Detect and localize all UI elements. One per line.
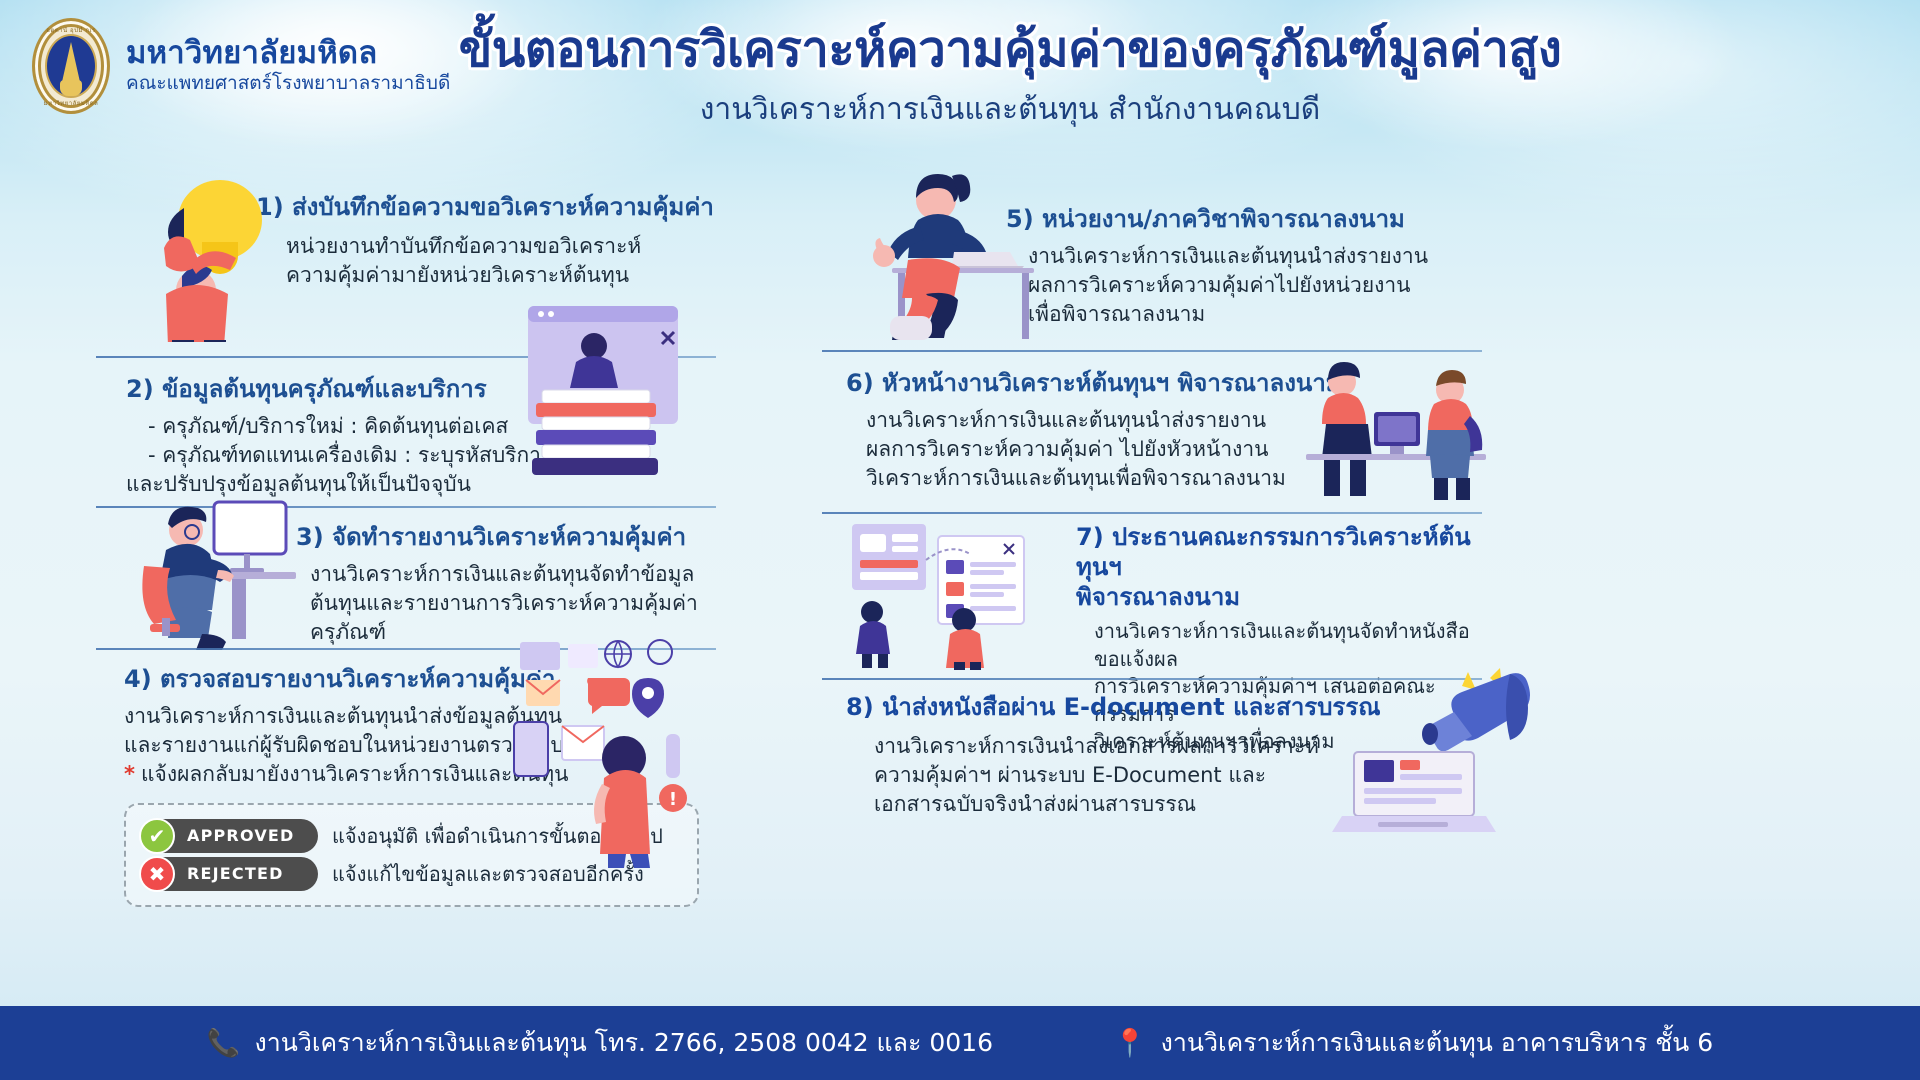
rejected-row: ✖ REJECTED แจ้งแก้ไขข้อมูลและตรวจสอบอีกค… [140, 857, 683, 891]
mahidol-crest-icon: อตฺตานํ อุปมํ กเร มหาวิทยาลัยมหิดล [32, 18, 110, 114]
step-8-body-line: งานวิเคราะห์การเงินนำส่งเอกสารผลการวิเคร… [874, 732, 1482, 761]
step-8-body-line: เอกสารฉบับจริงนำส่งผ่านสารบรรณ [874, 790, 1482, 819]
step-8-heading: 8) นำส่งหนังสือผ่าน E-document และสารบรร… [846, 692, 1482, 722]
step-2: 2) ข้อมูลต้นทุนครุภัณฑ์และบริการ - ครุภั… [96, 358, 716, 506]
footer-location-text: งานวิเคราะห์การเงินและต้นทุน อาคารบริหาร… [1161, 1023, 1714, 1063]
step-2-body-line: - ครุภัณฑ์/บริการใหม่ : คิดต้นทุนต่อเคส [148, 412, 716, 441]
step-1-heading: 1) ส่งบันทึกข้อความขอวิเคราะห์ความคุ้มค่… [256, 192, 716, 222]
page-subtitle: งานวิเคราะห์การเงินและต้นทุน สำนักงานคณบ… [420, 86, 1600, 133]
step-5-body-line: งานวิเคราะห์การเงินและต้นทุนนำส่งรายงาน [1028, 242, 1482, 271]
step-3-heading: 3) จัดทำรายงานวิเคราะห์ความคุ้มค่า [296, 522, 716, 552]
step-7-body-line: งานวิเคราะห์การเงินและต้นทุนจัดทำหนังสือ… [1094, 618, 1482, 673]
step-8: 8) นำส่งหนังสือผ่าน E-document และสารบรร… [822, 680, 1482, 850]
location-pin-icon: 📍 [1113, 1030, 1147, 1057]
step-4-note-asterisk: * [124, 760, 135, 789]
step-1-body-line: หน่วยงานทำบันทึกข้อความขอวิเคราะห์ [286, 232, 716, 261]
step-5-body-line: เพื่อพิจารณาลงนาม [1028, 300, 1482, 329]
step-5: 5) หน่วยงาน/ภาควิชาพิจารณาลงนาม งานวิเคร… [822, 168, 1482, 350]
step-1-body-line: ความคุ้มค่ามายังหน่วยวิเคราะห์ต้นทุน [286, 261, 716, 290]
step-4: ! 4) ตรวจสอบรายงานวิเคราะห์ความคุ้มค่า ง… [96, 650, 716, 890]
step-7-heading-line2: พิจารณาลงนาม [1076, 582, 1482, 612]
title-block: ขั้นตอนการวิเคราะห์ความคุ้มค่าของครุภัณฑ… [420, 22, 1600, 133]
step-6-heading: 6) หัวหน้างานวิเคราะห์ต้นทุนฯ พิจารณาลงน… [846, 368, 1482, 398]
step-5-heading: 5) หน่วยงาน/ภาควิชาพิจารณาลงนาม [1006, 204, 1482, 234]
step-4-body-line: งานวิเคราะห์การเงินและต้นทุนนำส่งข้อมูลต… [124, 702, 716, 731]
footer-phone-text: งานวิเคราะห์การเงินและต้นทุน โทร. 2766, … [255, 1023, 993, 1063]
step-4-heading: 4) ตรวจสอบรายงานวิเคราะห์ความคุ้มค่า [124, 664, 716, 694]
step-6: 6) หัวหน้างานวิเคราะห์ต้นทุนฯ พิจารณาลงน… [822, 352, 1482, 512]
step-2-heading: 2) ข้อมูลต้นทุนครุภัณฑ์และบริการ [126, 374, 716, 404]
right-steps-column: 5) หน่วยงาน/ภาควิชาพิจารณาลงนาม งานวิเคร… [822, 168, 1482, 850]
step-6-body-line: ผลการวิเคราะห์ความคุ้มค่า ไปยังหัวหน้างา… [866, 435, 1482, 464]
step-2-body-line: - ครุภัณฑ์ทดแทนเครื่องเดิม : ระบุรหัสบริ… [148, 441, 716, 470]
page-header: อตฺตานํ อุปมํ กเร มหาวิทยาลัยมหิดล มหาวิ… [0, 0, 1920, 175]
step-3: 3) จัดทำรายงานวิเคราะห์ความคุ้มค่า งานวิ… [96, 508, 716, 648]
step-4-body-line: และรายงานแก่ผู้รับผิดชอบในหน่วยงานตรวจสอ… [124, 731, 716, 760]
step-5-body-line: ผลการวิเคราะห์ความคุ้มค่าไปยังหน่วยงาน [1028, 271, 1482, 300]
footer-location: 📍 งานวิเคราะห์การเงินและต้นทุน อาคารบริห… [1113, 1023, 1713, 1063]
university-logo: อตฺตานํ อุปมํ กเร มหาวิทยาลัยมหิดล มหาวิ… [32, 18, 450, 114]
university-name: มหาวิทยาลัยมหิดล [126, 37, 450, 70]
step-7-heading: 7) ประธานคณะกรรมการวิเคราะห์ต้นทุนฯ [1076, 522, 1482, 582]
faculty-name: คณะแพทยศาสตร์โรงพยาบาลรามาธิบดี [126, 72, 450, 95]
step-8-body-line: ความคุ้มค่าฯ ผ่านระบบ E-Document และ [874, 761, 1482, 790]
approved-label: APPROVED [187, 826, 295, 845]
rejected-badge[interactable]: ✖ REJECTED [140, 857, 318, 891]
step-2-body-line: และปรับปรุงข้อมูลต้นทุนให้เป็นปัจจุบัน [126, 470, 716, 499]
approved-badge[interactable]: ✔ APPROVED [140, 819, 318, 853]
approved-row: ✔ APPROVED แจ้งอนุมัติ เพื่อดำเนินการขั้… [140, 819, 683, 853]
step-4-note: แจ้งผลกลับมายังงานวิเคราะห์การเงินและต้น… [141, 760, 568, 789]
page-footer: 📞 งานวิเคราะห์การเงินและต้นทุน โทร. 2766… [0, 1006, 1920, 1080]
footer-phone: 📞 งานวิเคราะห์การเงินและต้นทุน โทร. 2766… [207, 1023, 993, 1063]
rejected-label: REJECTED [187, 864, 284, 883]
rejected-note: แจ้งแก้ไขข้อมูลและตรวจสอบอีกครั้ง [332, 858, 644, 890]
approved-note: แจ้งอนุมัติ เพื่อดำเนินการขั้นตอนต่อไป [332, 820, 663, 852]
step-3-body-line: ต้นทุนและรายงานการวิเคราะห์ความคุ้มค่า [310, 589, 716, 618]
step-6-body-line: วิเคราะห์การเงินและต้นทุนเพื่อพิจารณาลงน… [866, 464, 1482, 493]
check-icon: ✔ [139, 818, 175, 854]
phone-icon: 📞 [207, 1030, 241, 1057]
left-steps-column: 1) ส่งบันทึกข้อความขอวิเคราะห์ความคุ้มค่… [96, 168, 716, 890]
cross-icon: ✖ [139, 856, 175, 892]
step-3-body-line: ครุภัณฑ์ [310, 618, 716, 647]
step-3-body-line: งานวิเคราะห์การเงินและต้นทุนจัดทำข้อมูล [310, 560, 716, 589]
approval-status-box: ✔ APPROVED แจ้งอนุมัติ เพื่อดำเนินการขั้… [124, 803, 699, 907]
page-title: ขั้นตอนการวิเคราะห์ความคุ้มค่าของครุภัณฑ… [420, 22, 1600, 78]
step-7: 7) ประธานคณะกรรมการวิเคราะห์ต้นทุนฯ พิจา… [822, 514, 1482, 678]
crest-motto-bottom: มหาวิทยาลัยมหิดล [32, 98, 110, 108]
step-6-body-line: งานวิเคราะห์การเงินและต้นทุนนำส่งรายงาน [866, 406, 1482, 435]
step-1: 1) ส่งบันทึกข้อความขอวิเคราะห์ความคุ้มค่… [96, 168, 716, 356]
